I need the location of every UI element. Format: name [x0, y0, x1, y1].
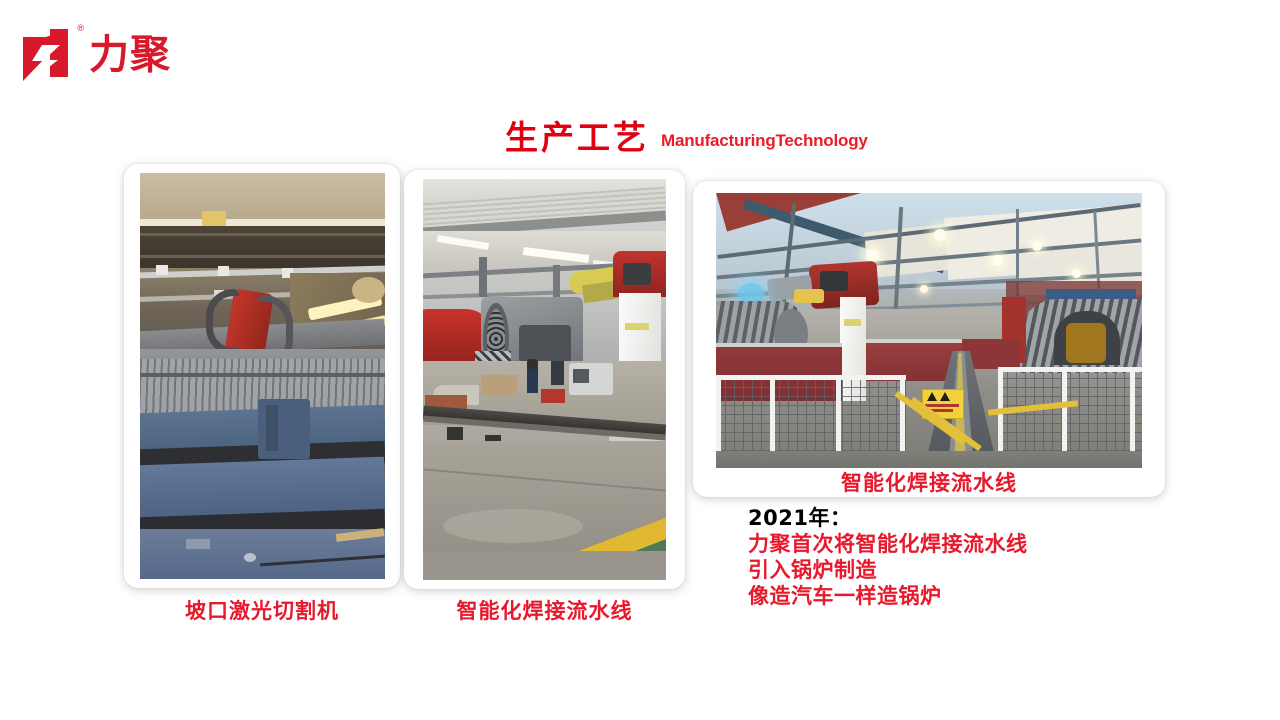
photo-card-laser-cutting [124, 164, 400, 588]
liju-lightning-mark-icon: ® [20, 27, 80, 83]
caption-welding-hall: 智能化焊接流水线 [693, 467, 1165, 497]
bevel-laser-cutting-machine-photo [140, 173, 385, 579]
registered-trademark-icon: ® [77, 24, 84, 33]
page-title: 生产工艺 ManufacturingTechnology [505, 110, 868, 154]
photo-card-welding-hall [693, 181, 1165, 497]
intelligent-welding-assembly-hall-photo [716, 193, 1142, 468]
page-title-cn: 生产工艺 [505, 121, 649, 154]
caption-welding-line: 智能化焊接流水线 [404, 595, 685, 625]
brand-logo: ® 力聚 [20, 22, 250, 88]
caption-laser-cutting: 坡口激光切割机 [124, 595, 400, 625]
milestone-text-block: 2021年： 力聚首次将智能化焊接流水线 引入锅炉制造 像造汽车一样造锅炉 [748, 505, 1178, 609]
milestone-line-1: 力聚首次将智能化焊接流水线 [748, 531, 1178, 557]
intelligent-welding-line-photo [423, 179, 666, 580]
milestone-line-2: 引入锅炉制造 [748, 557, 1178, 583]
page-title-en: ManufacturingTechnology [661, 132, 868, 149]
photo-card-welding-positioner [404, 170, 685, 589]
milestone-line-3: 像造汽车一样造锅炉 [748, 583, 1178, 609]
brand-name: 力聚 [89, 35, 171, 75]
milestone-year: 2021年： [748, 505, 1178, 531]
